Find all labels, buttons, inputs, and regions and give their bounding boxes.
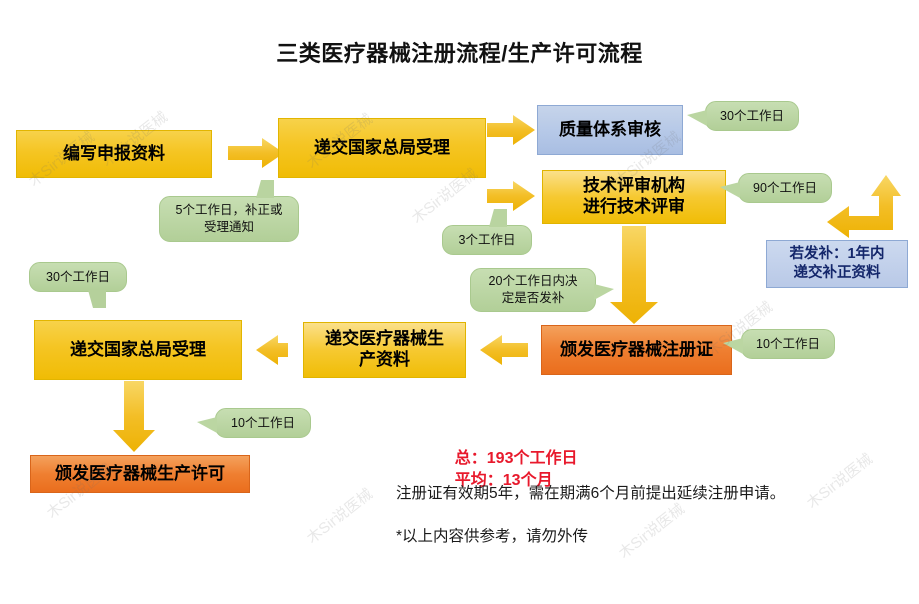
watermark: 木Sir说医械 xyxy=(802,448,877,513)
callout-text: 10个工作日 xyxy=(756,336,820,353)
box-submit-nmpa-1[interactable]: 递交国家总局受理 xyxy=(278,118,486,178)
arrow-submit2-to-license xyxy=(113,381,155,452)
footnote-validity: 注册证有效期5年，需在期满6个月前提出延续注册申请。 xyxy=(396,481,785,503)
watermark: 木Sir说医械 xyxy=(302,483,377,548)
callout-5-working-days: 5个工作日，补正或 受理通知 xyxy=(159,196,299,242)
callout-tail xyxy=(723,338,743,354)
page-title: 三类医疗器械注册流程/生产许可流程 xyxy=(0,36,919,68)
callout-tail xyxy=(197,417,217,433)
note-supplement-materials: 若发补：1年内 递交补正资料 xyxy=(766,240,908,288)
box-submit-nmpa-2[interactable]: 递交国家总局受理 xyxy=(34,320,242,380)
box-label: 递交国家总局受理 xyxy=(70,340,206,361)
arrow-supplement-return xyxy=(827,175,901,238)
box-label: 递交国家总局受理 xyxy=(314,138,450,159)
box-quality-system-audit[interactable]: 质量体系审核 xyxy=(537,105,683,155)
box-submit-production-docs[interactable]: 递交医疗器械生 产资料 xyxy=(303,322,466,378)
callout-text: 30个工作日 xyxy=(46,269,110,286)
note-line-2: 递交补正资料 xyxy=(794,264,881,283)
callout-text: 3个工作日 xyxy=(459,232,516,249)
arrow-submit1-to-review xyxy=(487,181,535,211)
footnote-disclaimer: *以上内容供参考，请勿外传 xyxy=(396,524,588,546)
callout-30-working-days-accept: 30个工作日 xyxy=(29,262,127,292)
arrow-review-to-certificate xyxy=(610,226,658,324)
callout-text: 5个工作日，补正或 受理通知 xyxy=(176,202,283,236)
watermark: 木Sir说医械 xyxy=(614,498,689,563)
callout-10-working-days-license: 10个工作日 xyxy=(215,408,311,438)
callout-tail xyxy=(256,180,274,198)
arrow-write-to-submit1 xyxy=(228,138,284,168)
callout-tail xyxy=(88,290,106,308)
box-label: 颁发医疗器械生产许可 xyxy=(55,464,225,485)
arrow-submit1-to-quality xyxy=(487,115,535,145)
box-label: 编写申报资料 xyxy=(63,144,165,165)
callout-10-working-days-certificate: 10个工作日 xyxy=(741,329,835,359)
box-issue-production-license[interactable]: 颁发医疗器械生产许可 xyxy=(30,455,250,493)
box-label: 技术评审机构 进行技术评审 xyxy=(583,176,685,217)
box-technical-review[interactable]: 技术评审机构 进行技术评审 xyxy=(542,170,726,224)
box-label: 质量体系审核 xyxy=(559,120,661,141)
callout-20-working-days: 20个工作日内决 定是否发补 xyxy=(470,268,596,312)
callout-text: 90个工作日 xyxy=(753,180,817,197)
box-write-application[interactable]: 编写申报资料 xyxy=(16,130,212,178)
callout-tail xyxy=(594,284,614,300)
flowchart-canvas: 三类医疗器械注册流程/生产许可流程 xyxy=(0,0,919,604)
arrow-prod-docs-to-submit2 xyxy=(256,335,288,365)
box-label: 递交医疗器械生 产资料 xyxy=(325,329,444,370)
box-label: 颁发医疗器械注册证 xyxy=(560,340,713,361)
callout-tail xyxy=(687,110,707,126)
callout-90-working-days: 90个工作日 xyxy=(738,173,832,203)
callout-tail xyxy=(720,182,740,198)
callout-text: 10个工作日 xyxy=(231,415,295,432)
note-line-1: 若发补：1年内 xyxy=(789,245,884,264)
callout-3-working-days: 3个工作日 xyxy=(442,225,532,255)
callout-text: 30个工作日 xyxy=(720,108,784,125)
arrow-certificate-to-prod-docs xyxy=(480,335,528,365)
callout-tail xyxy=(489,209,507,227)
callout-text: 20个工作日内决 定是否发补 xyxy=(489,273,578,307)
callout-30-working-days-quality: 30个工作日 xyxy=(705,101,799,131)
box-issue-registration-certificate[interactable]: 颁发医疗器械注册证 xyxy=(541,325,732,375)
